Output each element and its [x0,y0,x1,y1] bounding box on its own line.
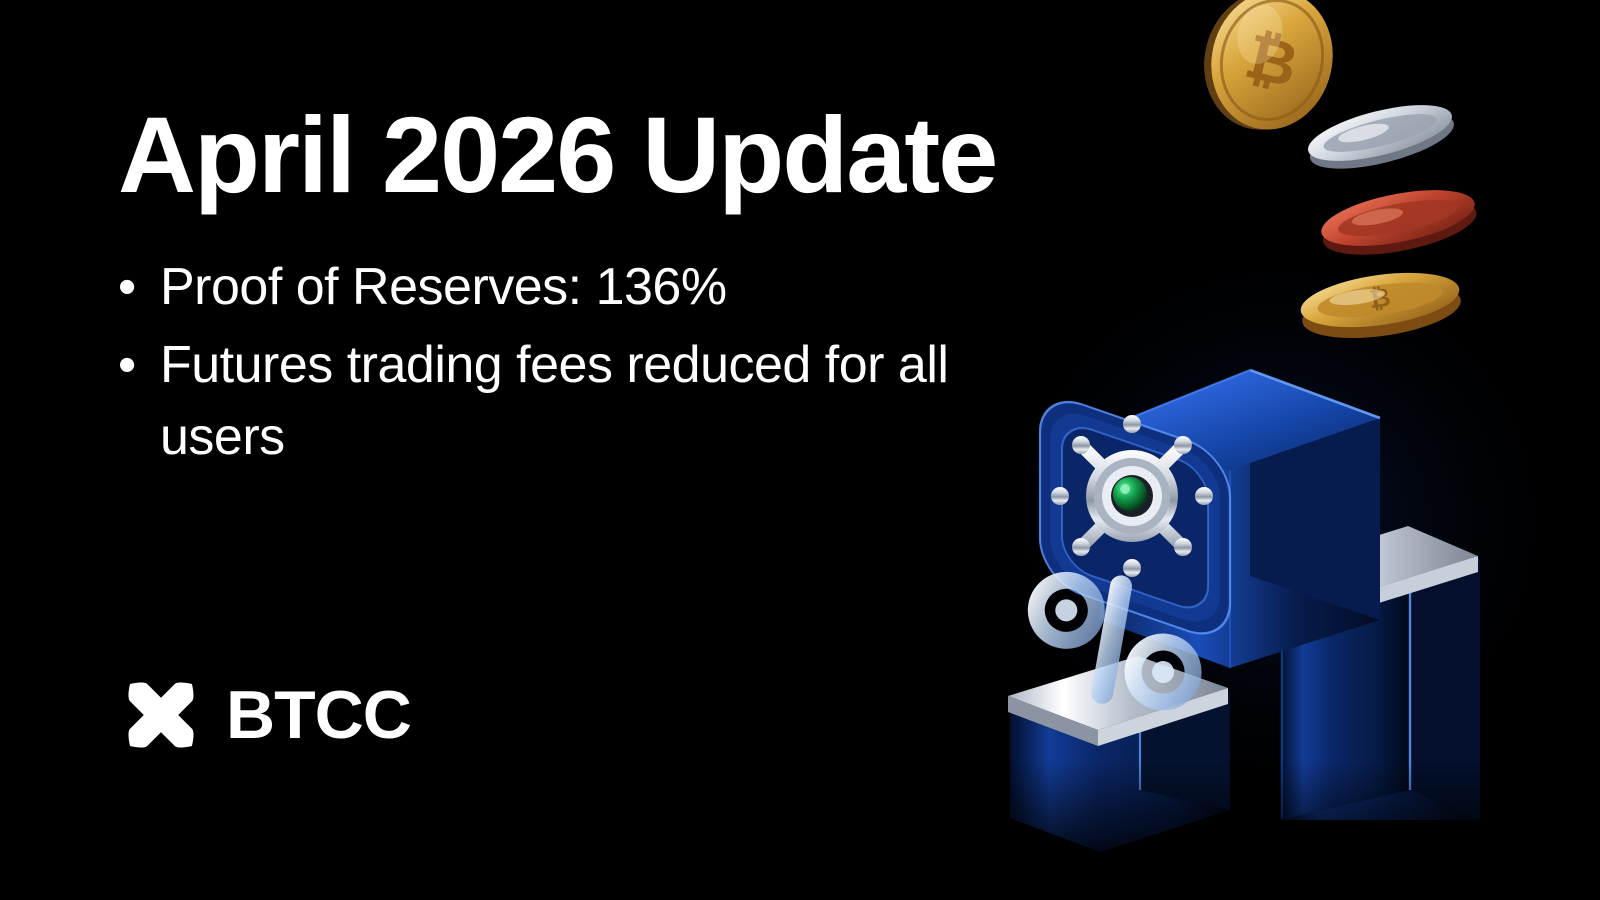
bullet-dot-icon: • [118,330,160,402]
list-item: • Futures trading fees reduced for all u… [118,330,1038,474]
btcc-x-logomark-icon [118,672,204,758]
red-copper-coin [1317,180,1481,266]
pedestal-left-plate [1008,656,1228,746]
vault-and-coins-3d-illustration: ₿ ₿ [980,0,1600,900]
vault-dial-center [1113,477,1147,511]
vault-door [1040,390,1230,645]
brand-wordmark: BTCC [226,681,411,749]
highlights-list: • Proof of Reserves: 136% • Futures trad… [118,252,1038,473]
silver-coin [1303,94,1459,180]
svg-text:₿: ₿ [1367,282,1392,315]
page-title: April 2026 Update [118,100,1038,210]
vault-wheel-handle [1051,415,1213,577]
brand-logo: BTCC [118,672,411,758]
list-item-label: Futures trading fees reduced for all use… [160,330,990,474]
list-item-label: Proof of Reserves: 136% [160,252,990,324]
bullet-dot-icon: • [118,252,160,324]
blue-vault-safe [1100,370,1380,668]
svg-text:₿: ₿ [1239,22,1305,101]
bitcoin-gold-coin: ₿ [1190,0,1348,144]
gold-coin: ₿ [1297,264,1464,347]
pedestal-right [1280,530,1480,820]
list-item: • Proof of Reserves: 136% [118,252,1038,324]
pedestal-left [1010,660,1230,852]
percent-symbol-icon [1029,552,1200,730]
pedestal-right-plate [1280,526,1478,612]
copy-block: April 2026 Update • Proof of Reserves: 1… [118,100,1038,479]
promo-banner: April 2026 Update • Proof of Reserves: 1… [0,0,1600,900]
